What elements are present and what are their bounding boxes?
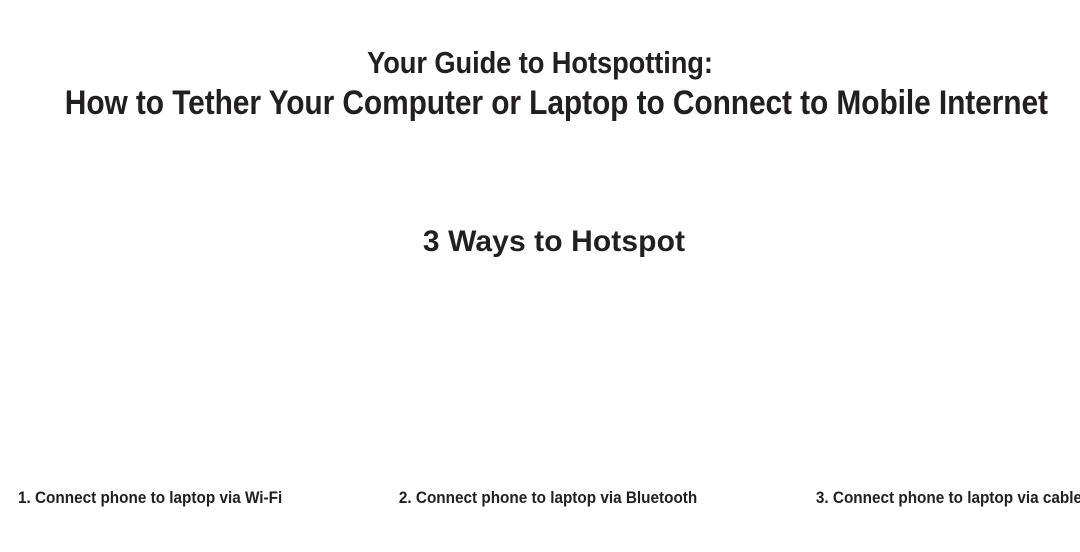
method-caption-wifi: 1. Connect phone to laptop via Wi-Fi — [0, 486, 342, 510]
illustration-slot-wifi — [0, 280, 360, 480]
method-caption-cable: 3. Connect phone to laptop via cable — [761, 486, 1080, 510]
section-heading: 3 Ways to Hotspot — [0, 222, 1080, 262]
title-line-1: Your Guide to Hotspotting: — [65, 44, 1015, 82]
illustration-slot-bluetooth — [360, 280, 720, 480]
illustration-slot-cable — [720, 280, 1080, 480]
method-caption-row: 1. Connect phone to laptop via Wi-Fi 2. … — [0, 486, 1080, 514]
title-line-2: How to Tether Your Computer or Laptop to… — [65, 83, 1015, 123]
infographic-page: Your Guide to Hotspotting: How to Tether… — [0, 0, 1080, 552]
method-caption-bluetooth: 2. Connect phone to laptop via Bluetooth — [380, 486, 723, 510]
section-heading-label: 3 Ways to Hotspot — [423, 222, 685, 262]
illustration-band — [0, 280, 1080, 480]
page-title: Your Guide to Hotspotting: How to Tether… — [0, 44, 1080, 123]
